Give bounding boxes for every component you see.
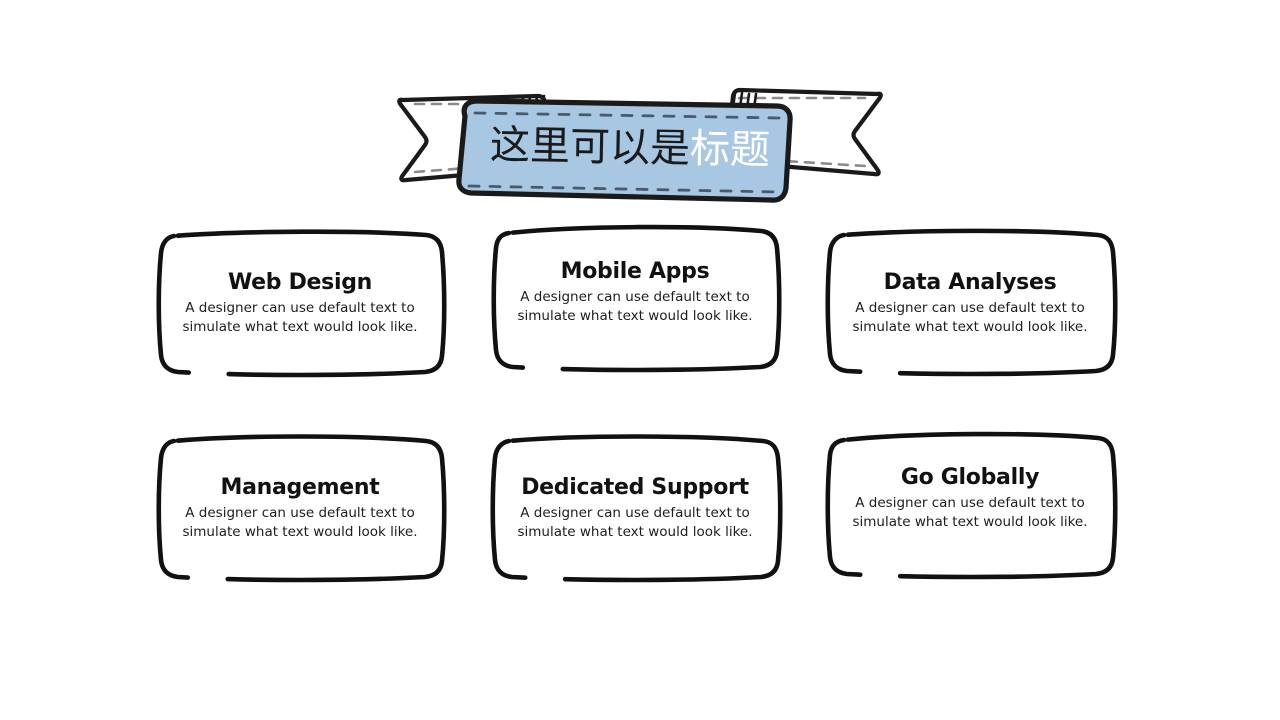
card-content: Management A designer can use default te… — [164, 431, 436, 583]
card-content: Web Design A designer can use default te… — [164, 226, 436, 378]
card-content: Data Analyses A designer can use default… — [834, 226, 1106, 378]
card-description: A designer can use default text to simul… — [845, 494, 1095, 533]
card-title: Data Analyses — [884, 271, 1057, 296]
card-title: Go Globally — [901, 466, 1039, 491]
slide-canvas: 这里可以是标题 Web Design A designer can use de… — [0, 0, 1280, 720]
card-title: Dedicated Support — [521, 476, 749, 501]
card-description: A designer can use default text to simul… — [175, 299, 425, 338]
card-content: Go Globally A designer can use default t… — [834, 425, 1106, 577]
feature-card-mobile-apps[interactable]: Mobile Apps A designer can use default t… — [485, 219, 785, 371]
feature-card-go-globally[interactable]: Go Globally A designer can use default t… — [820, 425, 1120, 577]
card-description: A designer can use default text to simul… — [845, 299, 1095, 338]
card-description: A designer can use default text to simul… — [510, 504, 760, 543]
feature-card-management[interactable]: Management A designer can use default te… — [150, 431, 450, 583]
card-content: Dedicated Support A designer can use def… — [499, 431, 771, 583]
ribbon-banner: 这里可以是标题 — [395, 82, 885, 207]
card-description: A designer can use default text to simul… — [175, 504, 425, 543]
card-title: Mobile Apps — [561, 260, 710, 285]
feature-card-dedicated-support[interactable]: Dedicated Support A designer can use def… — [485, 431, 785, 583]
ribbon-center-panel — [459, 101, 790, 200]
feature-card-data-analyses[interactable]: Data Analyses A designer can use default… — [820, 226, 1120, 378]
feature-card-web-design[interactable]: Web Design A designer can use default te… — [150, 226, 450, 378]
card-content: Mobile Apps A designer can use default t… — [499, 219, 771, 371]
card-description: A designer can use default text to simul… — [510, 288, 760, 327]
card-title: Management — [221, 476, 380, 501]
card-title: Web Design — [228, 271, 372, 296]
